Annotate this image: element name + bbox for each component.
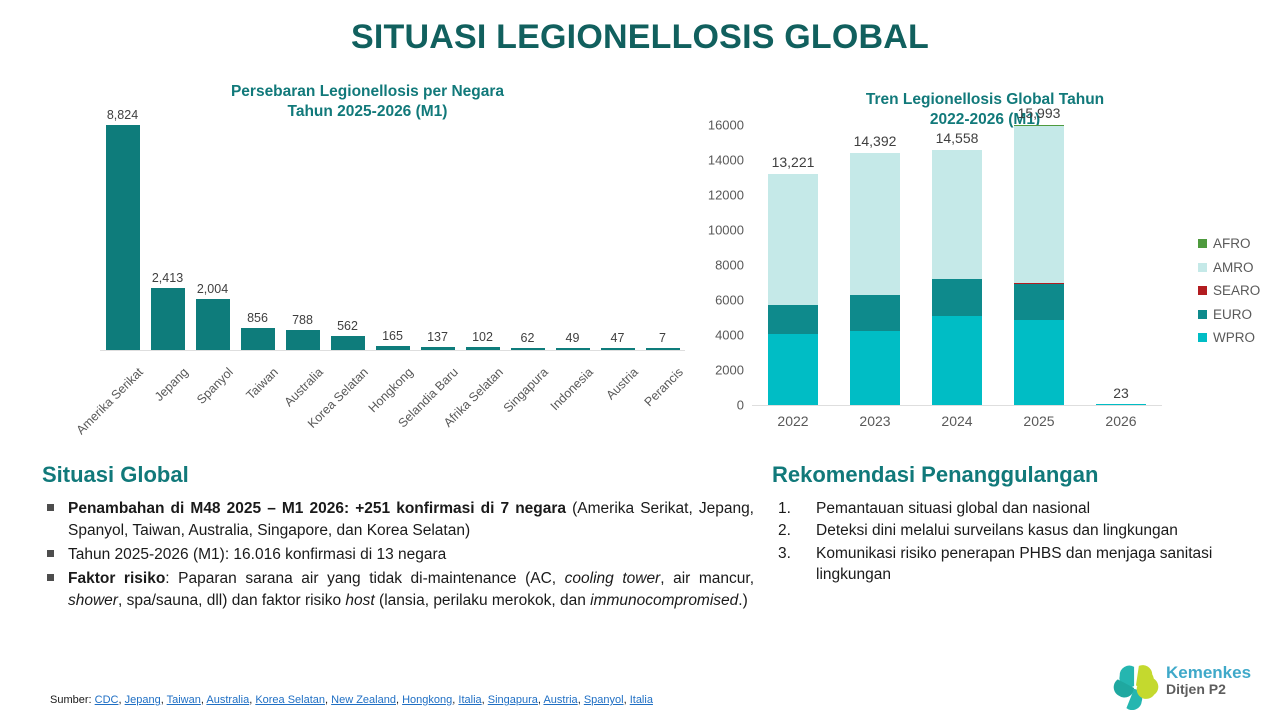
rekomendasi-item-number: 1. (778, 498, 804, 519)
source-link[interactable]: Taiwan (167, 694, 201, 706)
left-chart-bar (151, 288, 185, 350)
source-link[interactable]: Austria (543, 694, 577, 706)
rekomendasi-item: 2.Deteksi dini melalui surveilans kasus … (772, 520, 1232, 541)
right-chart-y-axis: 1600014000120001000080006000400020000 (680, 125, 744, 405)
right-chart-total-label: 23 (1073, 385, 1169, 401)
rekomendasi-list: 1.Pemantauan situasi global dan nasional… (772, 498, 1232, 587)
rekomendasi-item-text: Komunikasi risiko penerapan PHBS dan men… (816, 545, 1212, 583)
kemenkes-logo-sub: Ditjen P2 (1166, 682, 1251, 697)
kemenkes-logo: Kemenkes Ditjen P2 (1112, 662, 1272, 714)
right-chart-segment-amro (932, 150, 982, 279)
right-chart-y-tick: 10000 (688, 223, 744, 238)
bullet-text: Tahun 2025-2026 (M1): 16.016 konfirmasi … (68, 546, 446, 563)
kemenkes-logo-text: Kemenkes Ditjen P2 (1166, 664, 1251, 697)
left-chart-bar-fill (106, 125, 140, 350)
source-link[interactable]: Italia (630, 694, 653, 706)
right-chart-category-label: 2022 (758, 413, 828, 429)
rekomendasi-heading: Rekomendasi Penanggulangan (772, 462, 1098, 488)
right-chart-segment-amro (768, 174, 818, 305)
rekomendasi-item-text: Deteksi dini melalui surveilans kasus da… (816, 522, 1178, 539)
right-chart-stacked-bar (768, 174, 818, 405)
rekomendasi-item-number: 3. (778, 543, 804, 564)
right-chart-y-tick: 2000 (688, 363, 744, 378)
right-chart-y-tick: 16000 (688, 118, 744, 133)
left-chart-bar-fill (151, 288, 185, 350)
legend-swatch-icon (1198, 286, 1207, 295)
bullet-bold-text: Faktor risiko (68, 570, 165, 587)
left-chart-title-line1: Persebaran Legionellosis per Negara (140, 82, 595, 102)
right-chart-y-tick: 4000 (688, 328, 744, 343)
source-link[interactable]: Singapura (488, 694, 538, 706)
legend-swatch-icon (1198, 263, 1207, 272)
source-link[interactable]: Korea Selatan (255, 694, 325, 706)
situasi-global-bullet: Faktor risiko: Paparan sarana air yang t… (42, 568, 754, 612)
right-chart-category-label: 2025 (1004, 413, 1074, 429)
page-title: SITUASI LEGIONELLOSIS GLOBAL (0, 18, 1280, 57)
right-chart-segment-wpro (1014, 320, 1064, 405)
right-chart-segment-wpro (768, 334, 818, 405)
kemenkes-logo-name: Kemenkes (1166, 664, 1251, 682)
legend-label: SEARO (1213, 283, 1260, 298)
left-chart-bar (106, 125, 140, 350)
right-chart-y-tick: 14000 (688, 153, 744, 168)
situasi-global-bullet: Penambahan di M48 2025 – M1 2026: +251 k… (42, 498, 754, 542)
legend-item-wpro[interactable]: WPRO (1198, 330, 1280, 345)
legend-item-afro[interactable]: AFRO (1198, 236, 1280, 251)
bullet-marker-icon (47, 574, 54, 581)
right-chart-y-tick: 12000 (688, 188, 744, 203)
slide-root: SITUASI LEGIONELLOSIS GLOBAL Persebaran … (0, 0, 1280, 720)
source-label: Sumber: (50, 694, 95, 706)
legend-label: WPRO (1213, 330, 1255, 345)
left-chart-value-label: 2,004 (178, 282, 248, 296)
right-chart-stacked-bar (1014, 125, 1064, 405)
rekomendasi-item: 3.Komunikasi risiko penerapan PHBS dan m… (772, 543, 1232, 586)
legend-item-amro[interactable]: AMRO (1198, 260, 1280, 275)
bullet-bold-text: Penambahan di M48 2025 – M1 2026: +251 k… (68, 500, 566, 517)
right-chart-category-label: 2024 (922, 413, 992, 429)
right-chart-segment-amro (1014, 126, 1064, 283)
left-chart-bar (241, 328, 275, 350)
right-chart-y-tick: 0 (688, 398, 744, 413)
rekomendasi-item-number: 2. (778, 520, 804, 541)
right-chart-stacked-bar (850, 153, 900, 405)
right-chart-segment-wpro (932, 316, 982, 405)
right-chart-y-tick: 6000 (688, 293, 744, 308)
right-chart-title-line1: Tren Legionellosis Global Tahun (805, 90, 1165, 110)
legend-swatch-icon (1198, 239, 1207, 248)
left-chart-bar-fill (241, 328, 275, 350)
bullet-text: : Paparan sarana air yang tidak di-maint… (68, 570, 754, 609)
left-chart-axis-line (100, 350, 685, 351)
right-chart-total-label: 14,558 (909, 130, 1005, 146)
legend-swatch-icon (1198, 310, 1207, 319)
source-footer: Sumber: CDC, Jepang, Taiwan, Australia, … (50, 694, 653, 706)
legend-item-euro[interactable]: EURO (1198, 307, 1280, 322)
situasi-global-heading: Situasi Global (42, 462, 189, 488)
right-chart-segment-wpro (850, 331, 900, 405)
bullet-italic-term: immunocompromised (590, 592, 738, 609)
source-link[interactable]: Spanyol (584, 694, 624, 706)
right-chart-legend: AFROAMROSEAROEUROWPRO (1198, 236, 1280, 354)
left-chart-plot-area: 8,824Amerika Serikat2,413Jepang2,004Span… (100, 125, 685, 350)
legend-label: EURO (1213, 307, 1252, 322)
right-chart-total-label: 15,993 (991, 105, 1087, 121)
legend-swatch-icon (1198, 333, 1207, 342)
source-link[interactable]: CDC (95, 694, 119, 706)
legend-label: AFRO (1213, 236, 1251, 251)
legend-item-searo[interactable]: SEARO (1198, 283, 1280, 298)
left-chart-value-label: 8,824 (88, 108, 158, 122)
bullet-italic-term: shower (68, 592, 118, 609)
right-chart-category-label: 2026 (1086, 413, 1156, 429)
right-chart-category-label: 2023 (840, 413, 910, 429)
source-link[interactable]: New Zealand (331, 694, 396, 706)
right-chart-segment-euro (768, 305, 818, 334)
right-chart-segment-amro (850, 153, 900, 295)
kemenkes-clover-icon (1112, 664, 1160, 710)
right-chart-plot-area: 13,221202214,392202314,558202415,9932025… (752, 125, 1162, 405)
bullet-marker-icon (47, 550, 54, 557)
source-link[interactable]: Australia (206, 694, 249, 706)
left-bar-chart: 8,824Amerika Serikat2,413Jepang2,004Span… (30, 115, 690, 445)
right-chart-total-label: 13,221 (745, 154, 841, 170)
situasi-global-list: Penambahan di M48 2025 – M1 2026: +251 k… (42, 498, 754, 614)
rekomendasi-item: 1.Pemantauan situasi global dan nasional (772, 498, 1232, 519)
right-chart-axis-line (752, 405, 1162, 406)
right-stacked-bar-chart: 1600014000120001000080006000400020000 13… (680, 125, 1200, 435)
left-chart-bar (286, 330, 320, 350)
legend-label: AMRO (1213, 260, 1254, 275)
right-chart-segment-euro (932, 279, 982, 316)
source-link[interactable]: Italia (458, 694, 481, 706)
bullet-italic-term: host (345, 592, 374, 609)
bullet-italic-term: cooling tower (565, 570, 661, 587)
left-chart-bar-fill (286, 330, 320, 350)
source-link[interactable]: Hongkong (402, 694, 452, 706)
situasi-global-bullet: Tahun 2025-2026 (M1): 16.016 konfirmasi … (42, 544, 754, 566)
right-chart-y-tick: 8000 (688, 258, 744, 273)
right-chart-segment-euro (850, 295, 900, 331)
right-chart-segment-euro (1014, 284, 1064, 320)
source-link[interactable]: Jepang (125, 694, 161, 706)
rekomendasi-item-text: Pemantauan situasi global dan nasional (816, 500, 1090, 517)
right-chart-stacked-bar (932, 150, 982, 405)
bullet-marker-icon (47, 504, 54, 511)
